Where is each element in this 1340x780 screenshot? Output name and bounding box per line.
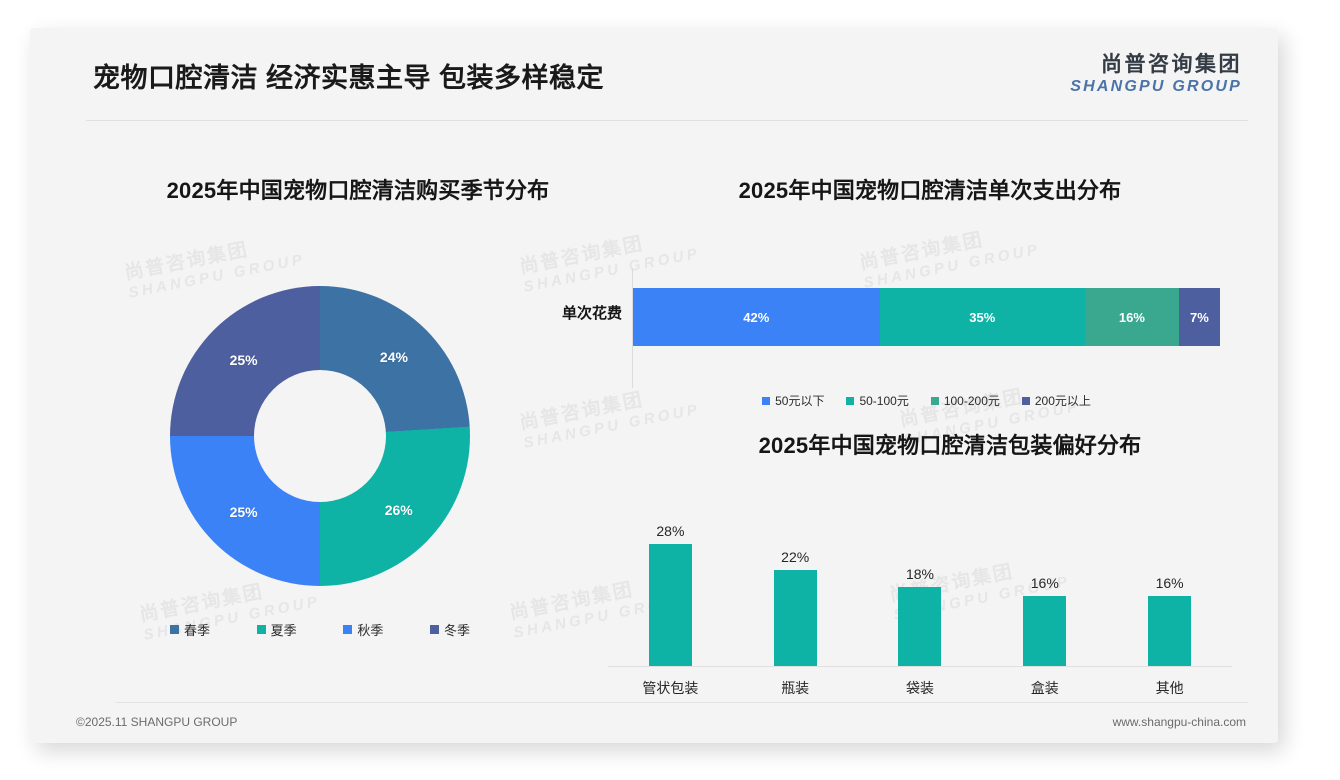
bar-rect — [1023, 596, 1066, 666]
bar-rect — [1148, 596, 1191, 666]
copyright-text: ©2025.11 SHANGPU GROUP — [76, 715, 237, 729]
donut-hole — [254, 370, 386, 502]
bar-value-label: 28% — [656, 523, 684, 539]
legend-label: 50元以下 — [775, 392, 824, 409]
segment-value-label: 7% — [1190, 310, 1209, 325]
donut-slice-label: 24% — [380, 349, 408, 365]
legend-label: 春季 — [184, 620, 210, 639]
watermark-cn: 尚普咨询集团 — [858, 219, 1039, 275]
bar-category-label: 袋装 — [864, 678, 976, 698]
legend-swatch-icon — [343, 625, 352, 634]
bar-rect — [774, 570, 817, 666]
slide-footer: ©2025.11 SHANGPU GROUP www.shangpu-china… — [30, 703, 1278, 743]
stacked-bar-segment[interactable]: 35% — [880, 288, 1085, 346]
legend-item[interactable]: 50-100元 — [846, 392, 908, 409]
spend-stacked-bar-chart: 单次花费 42%35%16%7% 50元以下50-100元100-200元200… — [530, 268, 1230, 398]
bar-category-label: 其他 — [1114, 678, 1226, 698]
bar-value-label: 16% — [1156, 575, 1184, 591]
legend-swatch-icon — [430, 625, 439, 634]
legend-swatch-icon — [1022, 397, 1030, 405]
stack-row-label: 单次花费 — [530, 302, 622, 323]
website-link[interactable]: www.shangpu-china.com — [1113, 715, 1246, 729]
segment-value-label: 42% — [743, 310, 769, 325]
bar-value-label: 16% — [1031, 575, 1059, 591]
bar-column[interactable]: 16% — [989, 506, 1101, 666]
brand-logo: 尚普咨询集团 SHANGPU GROUP — [1070, 53, 1242, 96]
legend-item[interactable]: 春季 — [170, 620, 210, 639]
spend-chart-title: 2025年中国宠物口腔清洁单次支出分布 — [650, 173, 1210, 205]
segment-value-label: 35% — [969, 310, 995, 325]
bar-column[interactable]: 18% — [864, 506, 976, 666]
bar-value-label: 18% — [906, 566, 934, 582]
donut-legend: 春季夏季秋季冬季 — [170, 620, 470, 639]
bar-category-label: 瓶装 — [739, 678, 851, 698]
bar-category-label: 盒装 — [989, 678, 1101, 698]
bar-column[interactable]: 22% — [739, 506, 851, 666]
packaging-bar-chart: 28%22%18%16%16% 管状包装瓶装袋装盒装其他 — [600, 488, 1240, 708]
legend-label: 冬季 — [444, 620, 470, 639]
legend-swatch-icon — [846, 397, 854, 405]
bar-value-label: 22% — [781, 549, 809, 565]
season-donut-chart: 24%26%25%25% — [170, 286, 470, 586]
legend-swatch-icon — [931, 397, 939, 405]
legend-swatch-icon — [257, 625, 266, 634]
slide-card: 尚普咨询集团SHANGPU GROUP 尚普咨询集团SHANGPU GROUP … — [30, 28, 1278, 743]
legend-label: 夏季 — [271, 620, 297, 639]
legend-label: 200元以上 — [1035, 392, 1091, 409]
legend-item[interactable]: 秋季 — [343, 620, 383, 639]
watermark-cn: 尚普咨询集团 — [123, 229, 304, 285]
donut-slice-label: 25% — [230, 504, 258, 520]
legend-swatch-icon — [762, 397, 770, 405]
legend-item[interactable]: 200元以上 — [1022, 392, 1091, 409]
logo-en-text: SHANGPU GROUP — [1070, 77, 1242, 96]
stacked-bar-segment[interactable]: 7% — [1179, 288, 1220, 346]
donut-slice-label: 26% — [385, 502, 413, 518]
legend-swatch-icon — [170, 625, 179, 634]
legend-item[interactable]: 100-200元 — [931, 392, 1000, 409]
page-title: 宠物口腔清洁 经济实惠主导 包装多样稳定 — [93, 56, 604, 95]
slide-header: 宠物口腔清洁 经济实惠主导 包装多样稳定 尚普咨询集团 SHANGPU GROU… — [30, 28, 1278, 120]
stacked-bar: 42%35%16%7% — [633, 288, 1220, 346]
bar-plot-area: 28%22%18%16%16% — [608, 506, 1232, 666]
legend-item[interactable]: 50元以下 — [762, 392, 824, 409]
stacked-bar-segment[interactable]: 16% — [1085, 288, 1179, 346]
legend-label: 秋季 — [357, 620, 383, 639]
bar-column[interactable]: 28% — [614, 506, 726, 666]
logo-cn-text: 尚普咨询集团 — [1070, 53, 1242, 77]
legend-item[interactable]: 夏季 — [257, 620, 297, 639]
packaging-chart-title: 2025年中国宠物口腔清洁包装偏好分布 — [670, 428, 1230, 460]
bar-rect — [898, 587, 941, 666]
stacked-bar-segment[interactable]: 42% — [633, 288, 880, 346]
segment-value-label: 16% — [1119, 310, 1145, 325]
legend-label: 50-100元 — [859, 392, 908, 409]
donut-slice-label: 25% — [230, 352, 258, 368]
header-divider — [86, 120, 1248, 121]
bar-category-axis: 管状包装瓶装袋装盒装其他 — [608, 678, 1232, 698]
bar-baseline — [608, 666, 1232, 667]
donut-chart-title: 2025年中国宠物口腔清洁购买季节分布 — [98, 173, 618, 205]
stack-legend: 50元以下50-100元100-200元200元以上 — [633, 392, 1220, 409]
bar-category-label: 管状包装 — [614, 678, 726, 698]
legend-label: 100-200元 — [944, 392, 1000, 409]
legend-item[interactable]: 冬季 — [430, 620, 470, 639]
bar-rect — [649, 544, 692, 667]
bar-column[interactable]: 16% — [1114, 506, 1226, 666]
